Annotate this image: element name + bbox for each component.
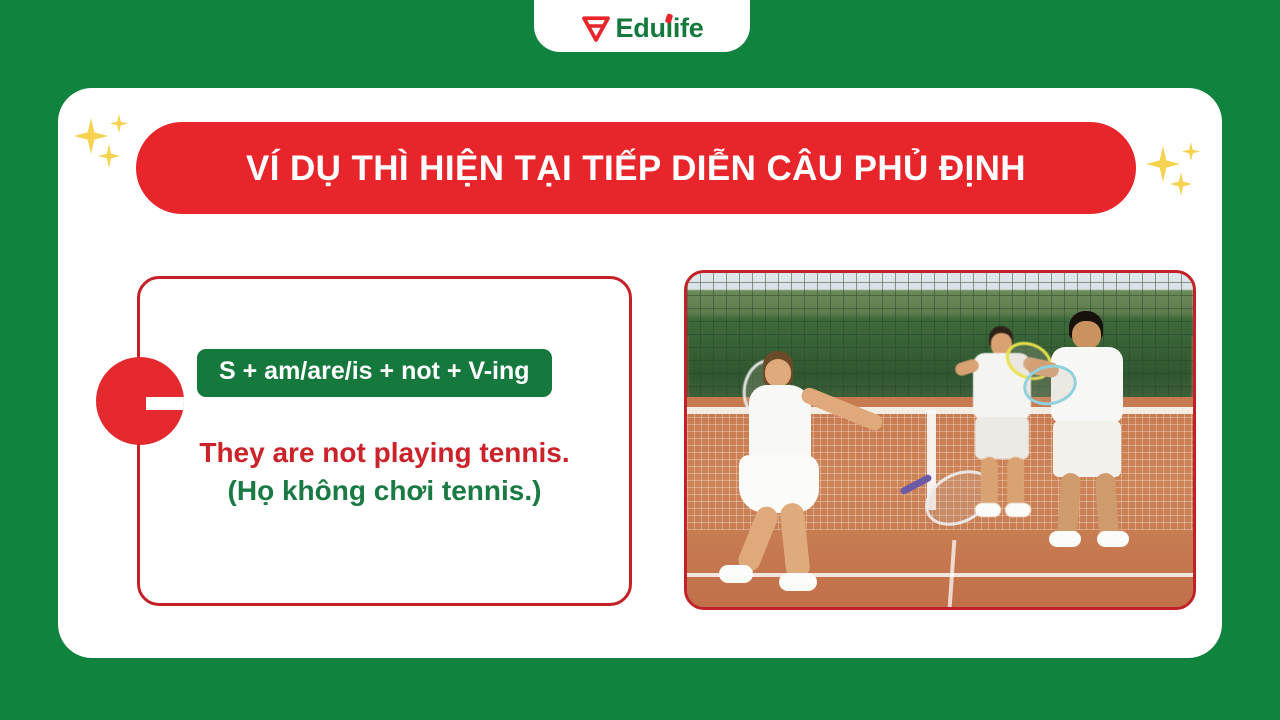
head — [1072, 321, 1101, 349]
leg-left — [981, 457, 998, 509]
page-title: VÍ DỤ THÌ HIỆN TẠI TIẾP DIỄN CÂU PHỦ ĐỊN… — [246, 151, 1026, 186]
shoe-left — [719, 565, 753, 583]
sparkle-large-icon — [74, 118, 108, 154]
tennis-photo-scene — [687, 273, 1193, 607]
title-banner: VÍ DỤ THÌ HIỆN TẠI TIẾP DIỄN CÂU PHỦ ĐỊN… — [136, 122, 1136, 214]
formula-pill: S + am/are/is + not + V-ing — [197, 349, 552, 397]
edulife-triangle-logo-icon — [581, 13, 611, 43]
leg-right — [1007, 457, 1024, 509]
brand-name-text: Edulife — [616, 13, 704, 43]
example-sentence-english: They are not playing tennis. — [140, 437, 629, 469]
shoe-right — [1097, 531, 1129, 547]
tennis-photo — [684, 270, 1196, 610]
sparkle-large-icon — [1146, 146, 1180, 182]
sparkle-small-icon — [1182, 142, 1200, 161]
example-panel: S + am/are/is + not + V-ing They are not… — [137, 276, 632, 606]
brand-tab: Edulife — [534, 0, 750, 52]
brand-name: Edulife — [616, 15, 704, 42]
shoe-right — [779, 573, 817, 591]
sparkle-small-icon — [110, 114, 128, 133]
example-sentence-vietnamese: (Họ không chơi tennis.) — [140, 475, 629, 507]
shoe-left — [975, 503, 1001, 517]
sparkle-medium-icon — [1170, 172, 1192, 196]
skirt — [739, 455, 819, 513]
head — [765, 359, 791, 387]
minus-circle-icon — [96, 357, 184, 445]
shorts — [1053, 421, 1121, 477]
shorts — [975, 417, 1029, 459]
sparkle-medium-icon — [98, 144, 120, 168]
shoe-right — [1005, 503, 1031, 517]
minus-bar-icon — [146, 397, 184, 410]
brand-logo: Edulife — [581, 13, 704, 43]
court-baseline — [687, 573, 1193, 577]
formula-text: S + am/are/is + not + V-ing — [219, 358, 530, 386]
shoe-left — [1049, 531, 1081, 547]
sparkle-cluster-right-icon — [1142, 136, 1222, 212]
content-card: VÍ DỤ THÌ HIỆN TẠI TIẾP DIỄN CÂU PHỦ ĐỊN… — [58, 88, 1222, 658]
